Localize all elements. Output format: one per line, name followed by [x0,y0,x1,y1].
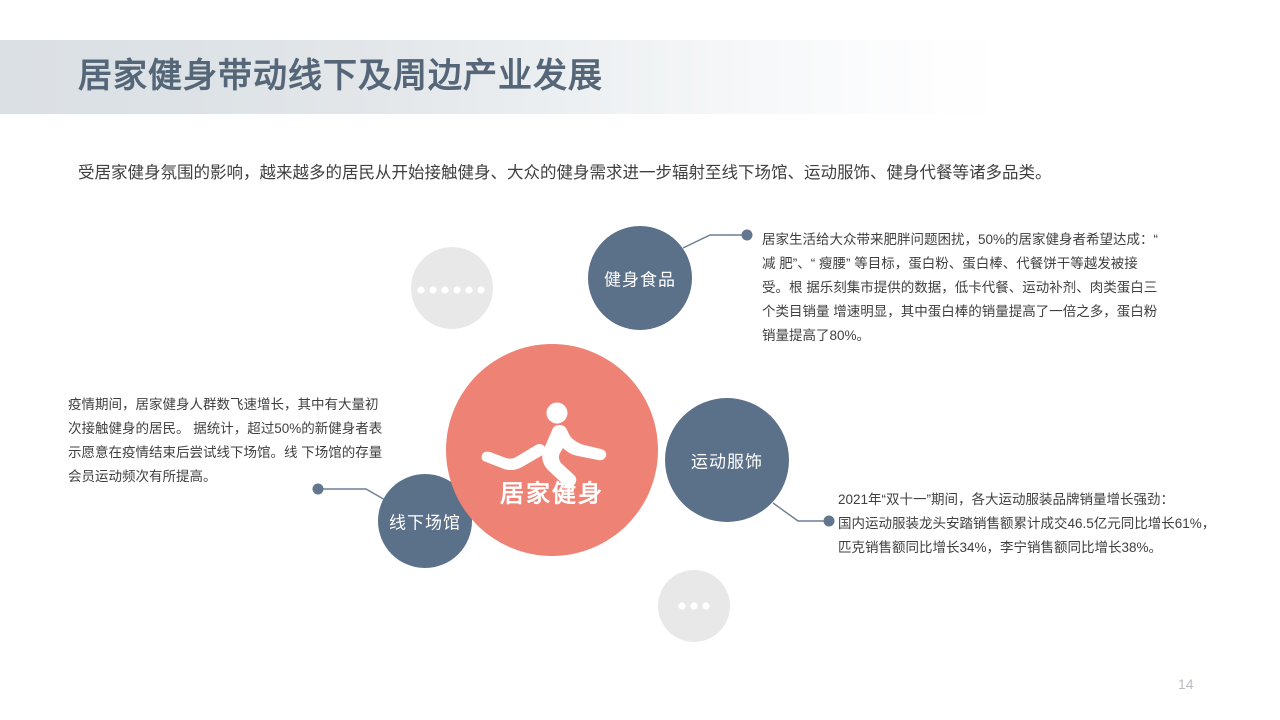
annotation-food-line: 个类目销量 增速明显，其中蛋白棒的销量提高了一倍之多，蛋白粉 [762,300,1192,324]
annotation-apparel-line: 匹克销售额同比增长34%，李宁销售额同比增长38%。 [838,536,1238,560]
apparel-connector [773,503,835,527]
center-label: 居家健身 [500,474,604,509]
page-title: 居家健身带动线下及周边产业发展 [78,52,603,100]
annotation-food: 居家生活给大众带来肥胖问题困扰，50%的居家健身者希望达成：“ 减 肥”、“ 瘦… [762,228,1192,348]
annotation-food-line: 受。根 据乐刻集市提供的数据，低卡代餐、运动补剂、肉类蛋白三 [762,276,1192,300]
annotation-apparel-line: 国内运动服装龙头安踏销售额累计成交46.5亿元同比增长61%， [838,512,1238,536]
annotation-gym-line: 疫情期间，居家健身人群数飞速增长，其中有大量初 [68,393,408,417]
node-label-apparel: 运动服饰 [691,448,763,473]
food-connector [683,230,753,249]
annotation-food-line: 居家生活给大众带来肥胖问题困扰，50%的居家健身者希望达成：“ [762,228,1192,252]
decor-circle-top [411,247,493,329]
annotation-food-line: 销量提高了80%。 [762,324,1192,348]
center-circle[interactable] [446,344,658,556]
annotation-food-line: 减 肥”、“ 瘦腰” 等目标，蛋白粉、蛋白棒、代餐饼干等越发被接 [762,252,1192,276]
annotation-apparel-line: 2021年“双十一”期间，各大运动服装品牌销量增长强劲： [838,488,1238,512]
decor-circle-bottom [658,570,730,642]
annotation-gym-line: 会员运动频次有所提高。 [68,465,408,489]
annotation-gym-line: 示愿意在疫情结束后尝试线下场馆。线 下场馆的存量 [68,441,408,465]
annotation-apparel: 2021年“双十一”期间，各大运动服装品牌销量增长强劲： 国内运动服装龙头安踏销… [838,488,1238,560]
node-label-gym: 线下场馆 [389,509,461,534]
annotation-gym: 疫情期间，居家健身人群数飞速增长，其中有大量初 次接触健身的居民。 据统计，超过… [68,393,408,489]
lead-paragraph: 受居家健身氛围的影响，越来越多的居民从开始接触健身、大众的健身需求进一步辐射至线… [78,160,1208,186]
slide-canvas: 居家健身带动线下及周边产业发展 受居家健身氛围的影响，越来越多的居民从开始接触健… [0,0,1280,720]
node-label-food: 健身食品 [604,266,676,291]
page-number: 14 [1178,676,1194,692]
annotation-gym-line: 次接触健身的居民。 据统计，超过50%的新健身者表 [68,417,408,441]
